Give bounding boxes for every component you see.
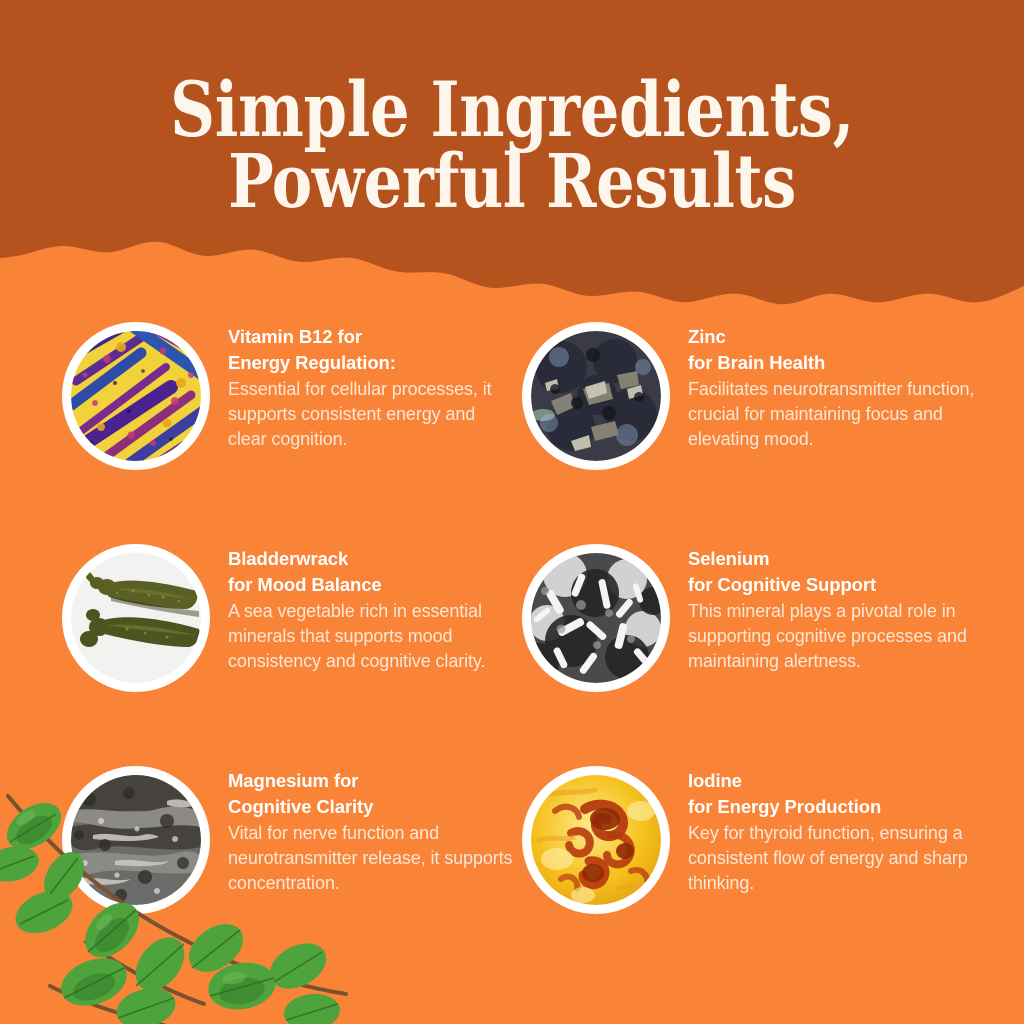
ingredient-title-line-1: Bladderwrack [228,546,517,572]
ingredient-title-line-1: Zinc [688,324,992,350]
ingredient-title-line-1: Magnesium for [228,768,517,794]
ingredient-title-line-2: for Brain Health [688,350,992,376]
ingredient-title-line-1: Vitamin B12 for [228,324,517,350]
ingredient-title-line-2: for Energy Production [688,794,992,820]
ingredient-title-line-2: for Cognitive Support [688,572,992,598]
ingredient-title: Bladderwrack for Mood Balance [228,546,517,598]
ingredient-thumbnail-zinc [522,322,670,470]
ingredient-text-selenium: Selenium for Cognitive Support This mine… [688,540,992,674]
ingredient-description: Vital for nerve function and neurotransm… [228,821,517,897]
ingredient-title: Magnesium for Cognitive Clarity [228,768,517,820]
ingredients-infographic-poster: Simple Ingredients, Powerful Results [0,0,1024,1024]
ingredient-thumbnail-magnesium [62,766,210,914]
ingredient-thumbnail-bladderwrack [62,544,210,692]
ingredient-card-iodine: Iodine for Energy Production Key for thy… [522,762,992,914]
bladderwrack-seaweed-image [71,553,201,683]
ingredient-text-zinc: Zinc for Brain Health Facilitates neurot… [688,318,992,452]
ingredients-grid: Vitamin B12 for Energy Regulation: Essen… [0,0,1024,1024]
ingredient-title: Selenium for Cognitive Support [688,546,992,598]
iodine-amber-liquid-swirl-image [531,775,661,905]
ingredient-card-zinc: Zinc for Brain Health Facilitates neurot… [522,318,992,470]
ingredient-description: A sea vegetable rich in essential minera… [228,599,517,675]
ingredient-description: This mineral plays a pivotal role in sup… [688,599,992,675]
ingredient-title: Zinc for Brain Health [688,324,992,376]
ingredient-title-line-2: Cognitive Clarity [228,794,517,820]
ingredient-description: Essential for cellular processes, it sup… [228,377,517,453]
vitamin-b12-crystal-microscopy-image [71,331,201,461]
ingredient-description: Facilitates neurotransmitter function, c… [688,377,992,453]
ingredient-title-line-1: Iodine [688,768,992,794]
ingredient-text-bladderwrack: Bladderwrack for Mood Balance A sea vege… [228,540,517,674]
ingredient-card-vitamin-b12: Vitamin B12 for Energy Regulation: Essen… [62,318,517,470]
ingredient-title-line-2: Energy Regulation: [228,350,517,376]
ingredient-title-line-1: Selenium [688,546,992,572]
selenium-crystal-needles-image [531,553,661,683]
ingredient-card-bladderwrack: Bladderwrack for Mood Balance A sea vege… [62,540,517,692]
ingredient-title: Vitamin B12 for Energy Regulation: [228,324,517,376]
ingredient-text-iodine: Iodine for Energy Production Key for thy… [688,762,992,896]
ingredient-title: Iodine for Energy Production [688,768,992,820]
ingredient-card-magnesium: Magnesium for Cognitive Clarity Vital fo… [62,762,517,914]
zinc-mineral-ore-image [531,331,661,461]
ingredient-text-magnesium: Magnesium for Cognitive Clarity Vital fo… [228,762,517,896]
ingredient-thumbnail-selenium [522,544,670,692]
ingredient-thumbnail-iodine [522,766,670,914]
ingredient-thumbnail-vitamin-b12 [62,322,210,470]
ingredient-text-vitamin-b12: Vitamin B12 for Energy Regulation: Essen… [228,318,517,452]
ingredient-title-line-2: for Mood Balance [228,572,517,598]
ingredient-description: Key for thyroid function, ensuring a con… [688,821,992,897]
magnesium-grey-rock-image [71,775,201,905]
ingredient-card-selenium: Selenium for Cognitive Support This mine… [522,540,992,692]
